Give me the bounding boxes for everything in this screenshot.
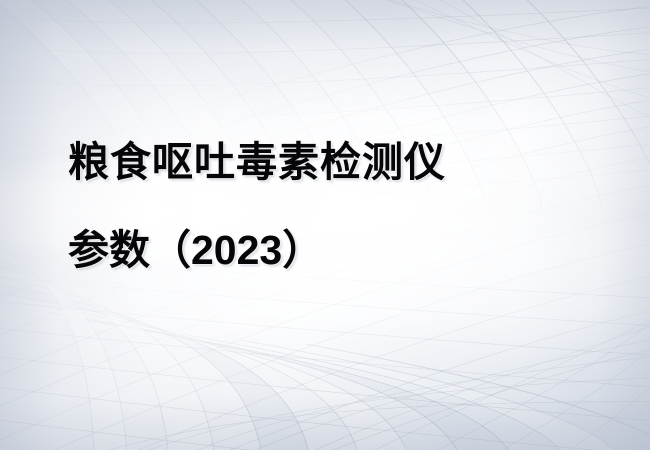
banner-image: 粮食呕吐毒素检测仪 参数（2023） bbox=[0, 0, 650, 450]
title-line-primary: 粮食呕吐毒素检测仪 bbox=[68, 118, 608, 206]
title-line-secondary: 参数（2023） bbox=[68, 206, 608, 294]
banner-title: 粮食呕吐毒素检测仪 参数（2023） bbox=[68, 118, 608, 294]
